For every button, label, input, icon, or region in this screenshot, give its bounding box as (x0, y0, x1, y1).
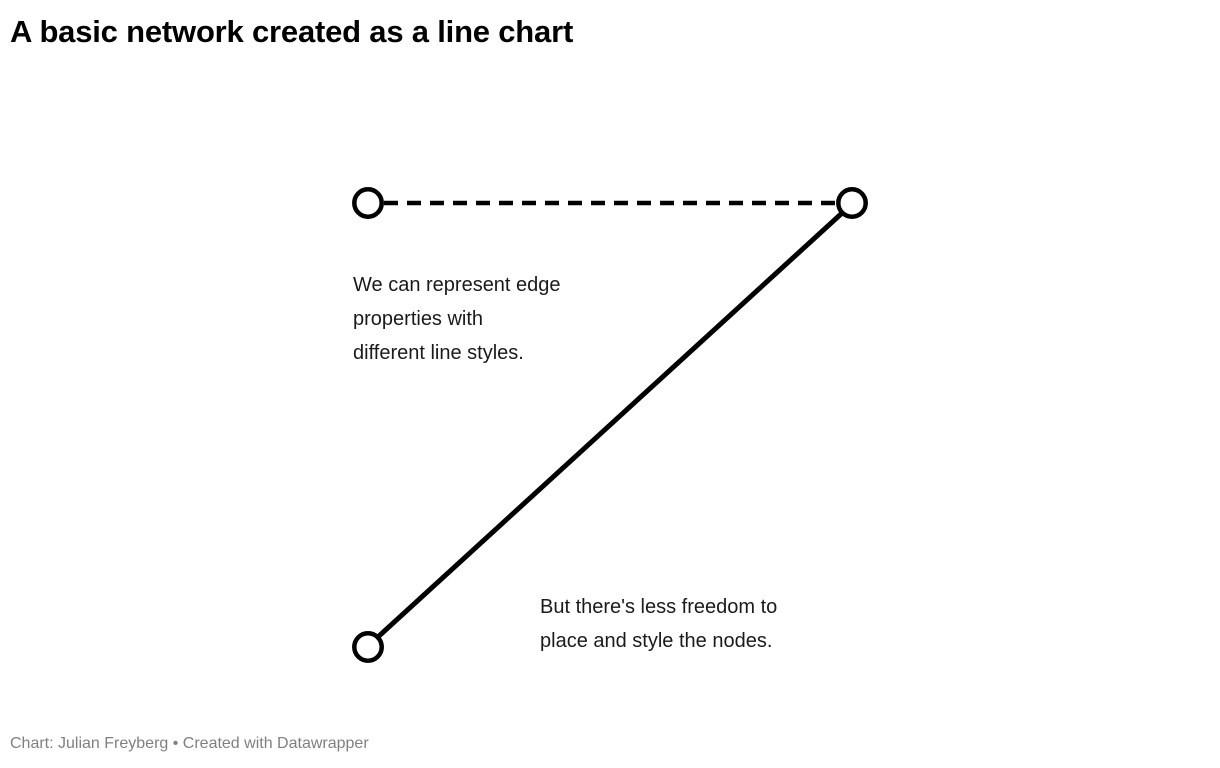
node-bottom-left[interactable] (354, 633, 381, 660)
chart-credit: Chart: Julian Freyberg • Created with Da… (10, 733, 369, 755)
plot-area: We can represent edge properties with di… (0, 60, 1220, 720)
node-top-right[interactable] (838, 189, 865, 216)
node-top-left[interactable] (354, 189, 381, 216)
page-title: A basic network created as a line chart (10, 13, 573, 51)
annotation-edge-properties: We can represent edge properties with di… (353, 268, 561, 370)
annotation-node-limitations: But there's less freedom to place and st… (540, 590, 777, 658)
chart-root: A basic network created as a line chart … (0, 0, 1220, 768)
